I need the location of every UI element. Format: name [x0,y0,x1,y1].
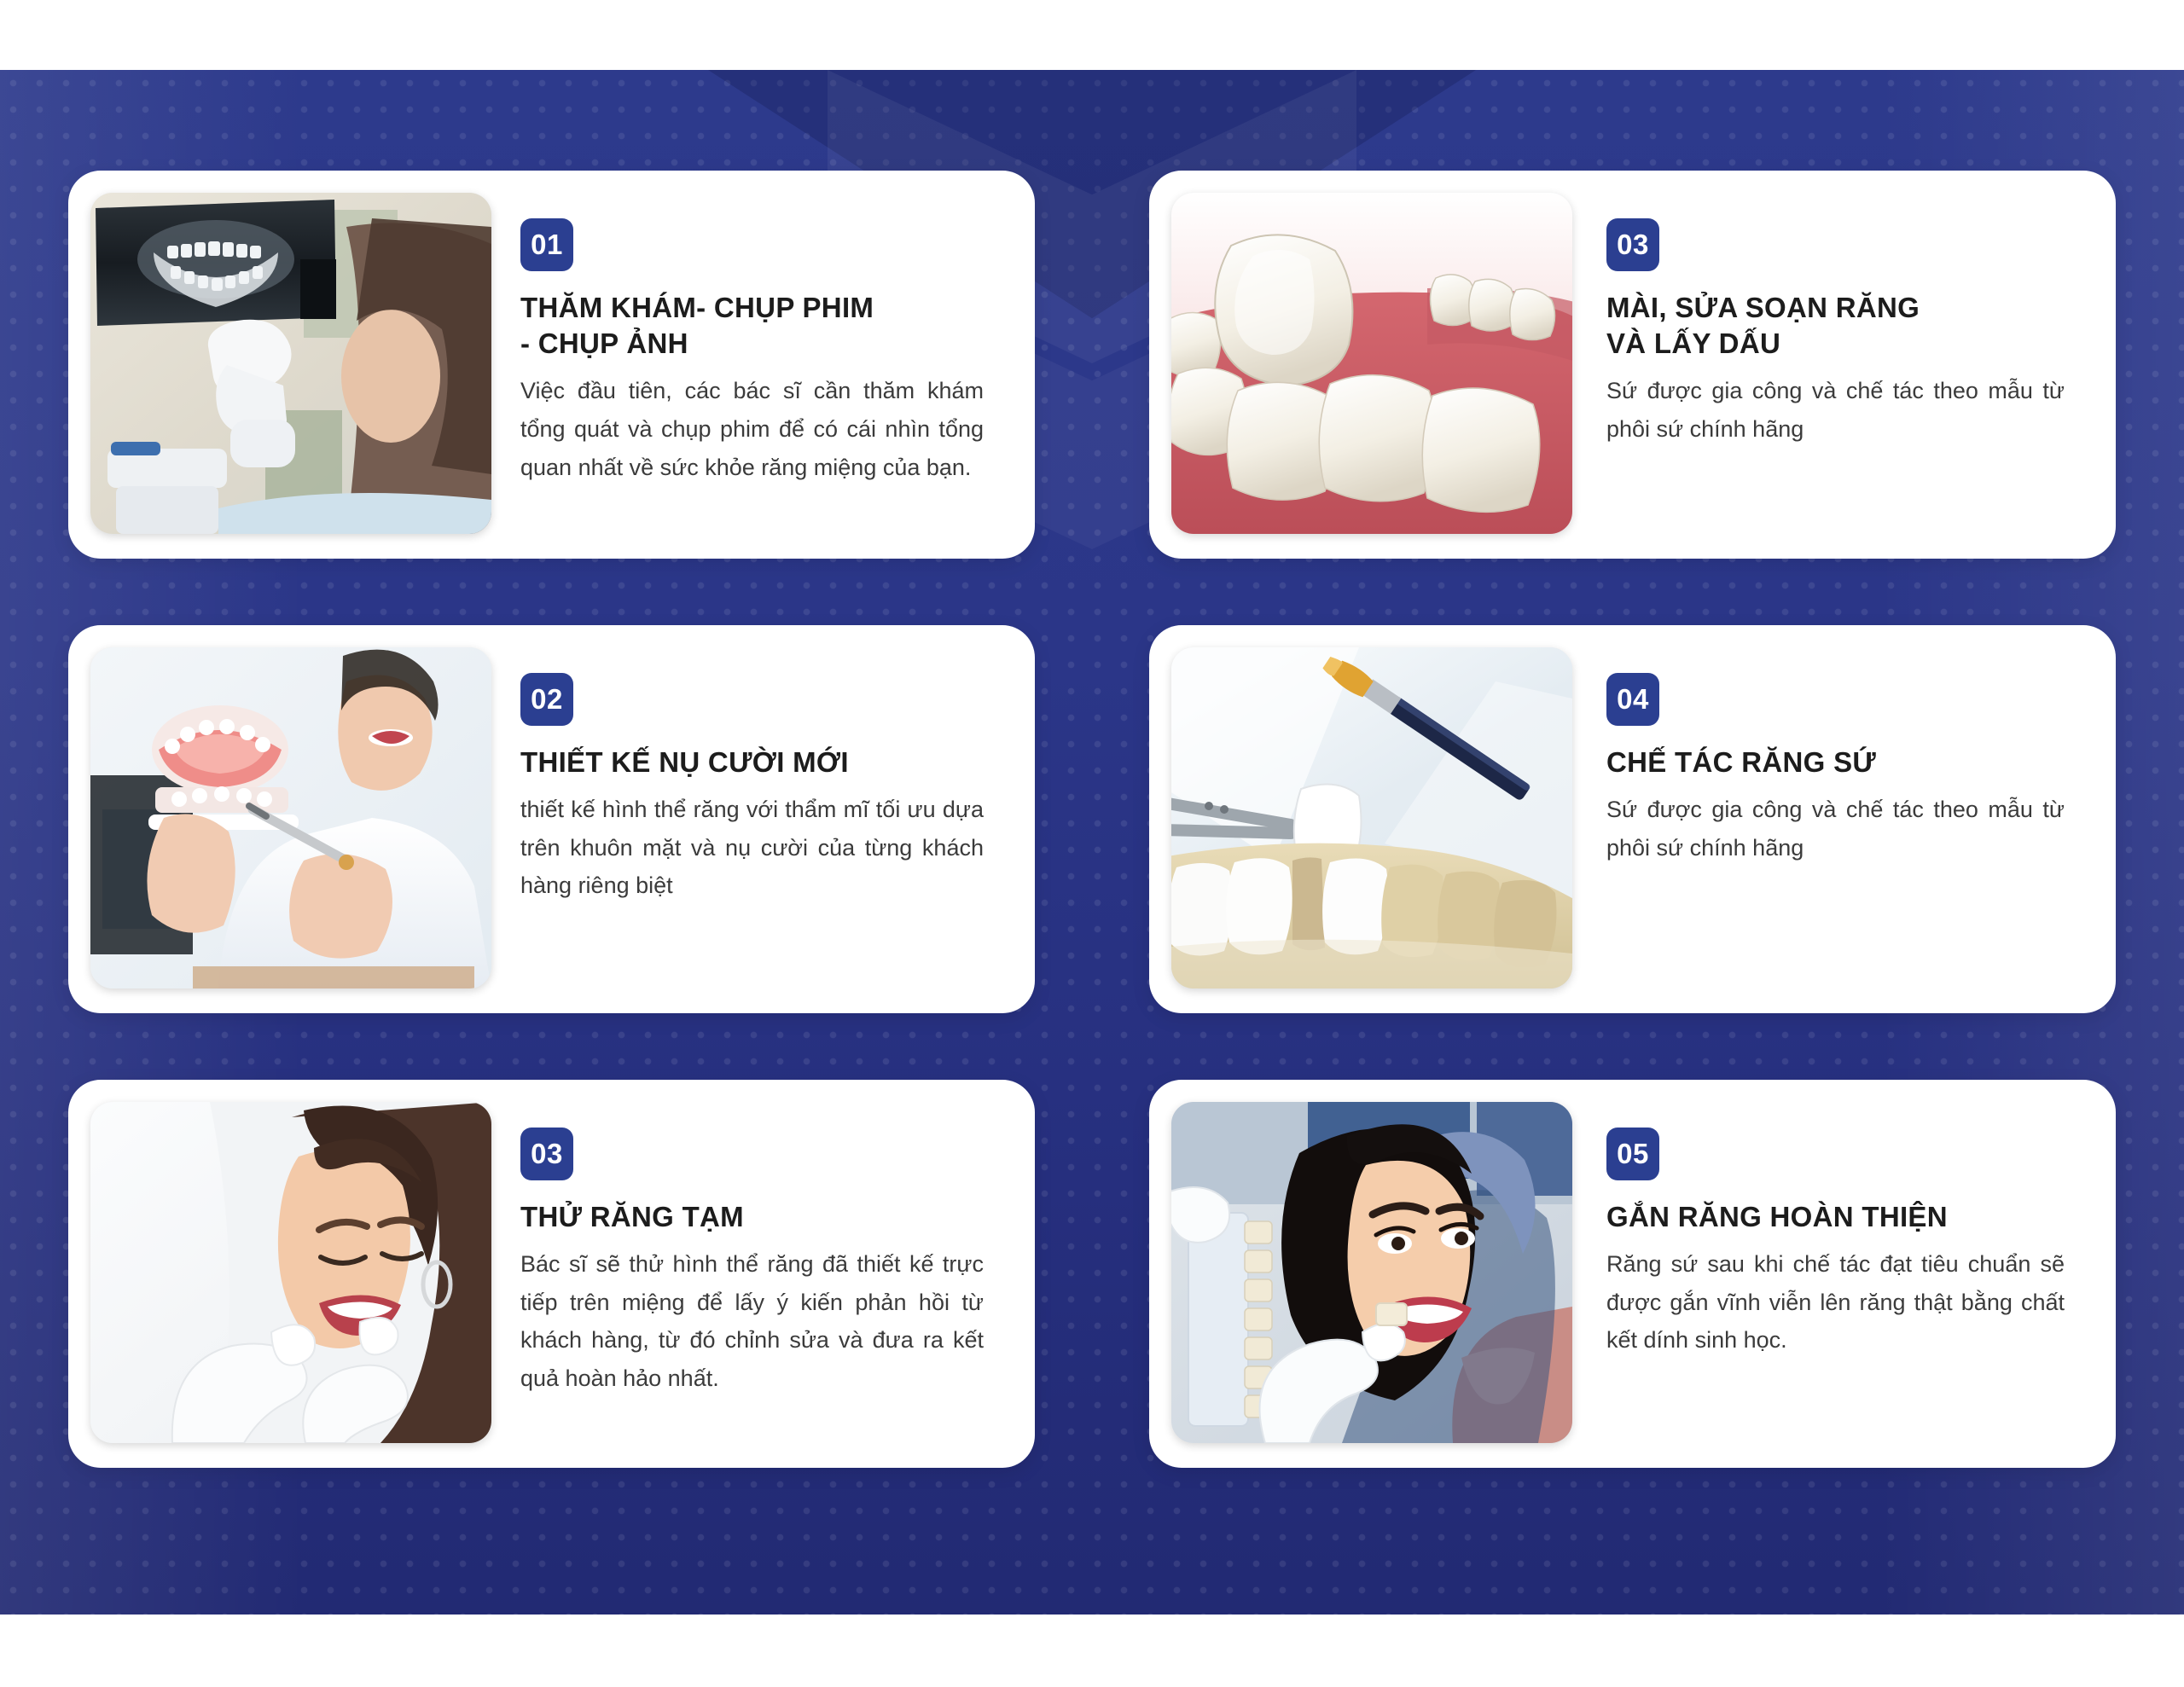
step-description: Bác sĩ sẽ thử hình thể răng đã thiết kế … [520,1245,984,1397]
step-title: MÀI, SỬA SOẠN RĂNG VÀ LẤY DẤU [1606,290,2065,362]
thumbnail-dentist-jaw-model [90,647,491,988]
step-description: Sứ được gia công và chế tác theo mẫu từ … [1606,791,2065,867]
step-description: Răng sứ sau khi chế tác đạt tiêu chuẩn s… [1606,1245,2065,1359]
step-number-badge: 03 [520,1128,573,1180]
step-number-badge: 02 [520,673,573,726]
thumbnail-shade-guide-matching [1171,1102,1572,1443]
step-description: Việc đầu tiên, các bác sĩ cần thăm khám … [520,372,984,486]
step-number-badge: 05 [1606,1128,1659,1180]
infographic-stage: 01 THĂM KHÁM- CHỤP PHIM - CHỤP ẢNH Việc … [0,0,2184,1687]
step-title: THIẾT KẾ NỤ CƯỜI MỚI [520,745,984,780]
step-description: thiết kế hình thể răng với thẩm mĩ tối ư… [520,791,984,905]
step-number-badge: 01 [520,218,573,271]
step-card-body: 05 GẮN RĂNG HOÀN THIỆN Răng sứ sau khi c… [1594,1102,2094,1359]
step-number-badge: 04 [1606,673,1659,726]
thumbnail-dental-xray-review [90,193,491,534]
step-card-body: 02 THIẾT KẾ NỤ CƯỜI MỚI thiết kế hình th… [514,647,1013,905]
step-card-grid: 01 THĂM KHÁM- CHỤP PHIM - CHỤP ẢNH Việc … [68,171,2116,1468]
step-title: CHẾ TÁC RĂNG SỨ [1606,745,2065,780]
step-title: THỬ RĂNG TẠM [520,1199,984,1235]
step-title: THĂM KHÁM- CHỤP PHIM - CHỤP ẢNH [520,290,984,362]
step-card-01[interactable]: 01 THĂM KHÁM- CHỤP PHIM - CHỤP ẢNH Việc … [68,171,1035,559]
thumbnail-patient-smile-check [90,1102,491,1443]
step-card-04[interactable]: 04 CHẾ TÁC RĂNG SỨ Sứ được gia công và c… [1149,625,2116,1013]
step-number-badge: 03 [1606,218,1659,271]
step-card-body: 04 CHẾ TÁC RĂNG SỨ Sứ được gia công và c… [1594,647,2094,867]
step-card-03-bottom[interactable]: 03 THỬ RĂNG TẠM Bác sĩ sẽ thử hình thể r… [68,1080,1035,1468]
step-card-03-top[interactable]: 03 MÀI, SỬA SOẠN RĂNG VÀ LẤY DẤU Sứ được… [1149,171,2116,559]
step-card-body: 01 THĂM KHÁM- CHỤP PHIM - CHỤP ẢNH Việc … [514,193,1013,486]
thumbnail-veneer-placement-model [1171,647,1572,988]
step-title: GẮN RĂNG HOÀN THIỆN [1606,1199,2065,1235]
step-card-body: 03 THỬ RĂNG TẠM Bác sĩ sẽ thử hình thể r… [514,1102,1013,1397]
step-description: Sứ được gia công và chế tác theo mẫu từ … [1606,372,2065,448]
step-card-body: 03 MÀI, SỬA SOẠN RĂNG VÀ LẤY DẤU Sứ được… [1594,193,2094,449]
step-card-05[interactable]: 05 GẮN RĂNG HOÀN THIỆN Răng sứ sau khi c… [1149,1080,2116,1468]
step-card-02[interactable]: 02 THIẾT KẾ NỤ CƯỜI MỚI thiết kế hình th… [68,625,1035,1013]
thumbnail-tooth-crown-render [1171,193,1572,534]
